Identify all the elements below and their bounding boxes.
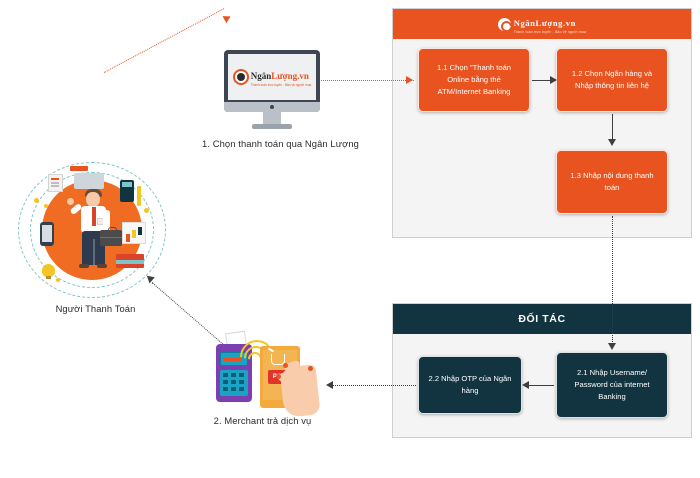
arrow-2-1-to-2-2 <box>527 385 554 386</box>
panel-partner-header: ĐỐI TÁC <box>393 304 691 334</box>
books-icon <box>116 254 144 268</box>
flow-box-2-1[interactable]: 2.1 Nhập Username/ Password của internet… <box>556 352 668 418</box>
arrow-1-2-to-1-3 <box>612 114 613 142</box>
monitor-nganluong-logo: NgânLượng.vn Thanh toán trực tuyến - Bảo… <box>233 67 312 87</box>
monitor-logo-name-part2: Lượng.vn <box>271 71 309 81</box>
coin-icon <box>56 278 60 282</box>
diagram-canvas: NgânLượng.vn Thanh toán trực tuyến - Bảo… <box>0 0 700 478</box>
payer-raised-hand <box>67 198 74 205</box>
flow-box-1-1[interactable]: 1.1 Chọn "Thanh toán Online bằng thẻ ATM… <box>418 48 530 112</box>
payer-briefcase-icon <box>100 230 122 246</box>
flow-box-1-2[interactable]: 1.2 Chọn Ngân hàng và Nhập thông tin liê… <box>556 48 668 112</box>
connector-nganluong-to-partner-head-icon <box>608 343 616 350</box>
panel-nganluong-header: NgânLượng.vn Thanh toán trực tuyến - Bảo… <box>393 9 691 39</box>
nganluong-logo-name: NgânLượng.vn <box>514 18 576 28</box>
fingernail <box>308 366 313 371</box>
caption-payer: Người Thanh Toán <box>18 303 173 314</box>
nganluong-logo-tagline: Thanh toán trực tuyến - Bảo vệ người mua <box>514 31 586 34</box>
coin-icon <box>144 208 149 213</box>
payer-shoe-right <box>97 264 107 268</box>
panel-partner-title: ĐỐI TÁC <box>518 313 565 325</box>
monitor-screen: NgânLượng.vn Thanh toán trực tuyến - Bảo… <box>228 54 316 100</box>
monitor-stand-neck <box>263 112 281 124</box>
caption-step-2: 2. Merchant trả dịch vụ <box>180 415 345 426</box>
caption-step-1: 1. Chọn thanh toán qua Ngân Lượng <box>178 138 383 149</box>
monitor-logo-name-part1: Ngân <box>251 71 272 81</box>
monitor-illustration: NgânLượng.vn Thanh toán trực tuyến - Bảo… <box>224 50 320 132</box>
pencil-icon <box>137 186 141 206</box>
nganluong-logo-mark-icon <box>498 18 511 31</box>
fingernail <box>283 363 288 368</box>
arrow-1-2-to-1-3-head-icon <box>608 139 616 146</box>
payer-illustration <box>12 160 172 300</box>
mobile-phone-icon <box>40 222 54 246</box>
lightbulb-icon <box>42 264 55 277</box>
connector-person-to-monitor-head-icon <box>223 13 233 23</box>
connector-monitor-to-panel <box>318 80 414 81</box>
calculator-icon <box>120 180 134 202</box>
connector-nganluong-to-partner <box>612 216 613 346</box>
document-icon <box>48 174 63 192</box>
monitor-bezel: NgânLượng.vn Thanh toán trực tuyến - Bảo… <box>224 50 320 112</box>
arrow-1-1-to-1-2-head-icon <box>550 76 557 84</box>
coin-icon <box>34 198 39 203</box>
terminal-icon <box>74 173 104 189</box>
flow-box-2-2[interactable]: 2.2 Nhập OTP của Ngân hàng <box>418 356 522 414</box>
nganluong-logo: NgânLượng.vn Thanh toán trực tuyến - Bảo… <box>498 14 586 34</box>
arrow-2-1-to-2-2-head-icon <box>522 381 529 389</box>
connector-monitor-to-panel-head-icon <box>406 76 413 84</box>
pos-terminal-keypad <box>220 370 248 396</box>
connector-person-to-monitor <box>104 8 225 73</box>
monitor-stand-base <box>252 124 292 129</box>
connector-partner-to-merchant <box>332 385 416 386</box>
monitor-logo-tagline: Thanh toán trực tuyến - Bảo vệ người mua <box>251 84 312 87</box>
merchant-illustration: PAY <box>208 330 338 412</box>
monitor-chin <box>224 102 320 112</box>
payer-shoe-left <box>79 264 89 268</box>
monitor-power-dot-icon <box>270 105 274 109</box>
bar-chart-icon <box>122 222 146 244</box>
payer-head <box>86 192 100 207</box>
flow-box-1-3[interactable]: 1.3 Nhập nội dung thanh toán <box>556 150 668 214</box>
monitor-logo-mark-icon <box>233 69 249 85</box>
coin-icon <box>44 204 48 208</box>
credit-card-icon <box>70 166 88 171</box>
payer-tie <box>92 207 96 226</box>
fingernail <box>276 374 281 379</box>
